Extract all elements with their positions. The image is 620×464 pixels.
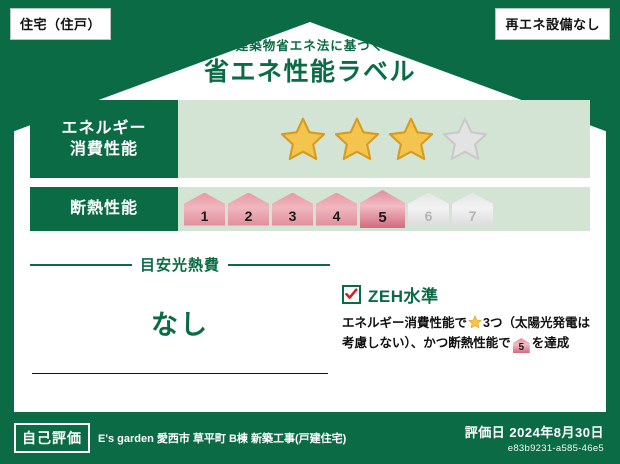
zeh-desc-part1: エネルギー消費性能で <box>342 316 467 330</box>
energy-label-line1: エネルギー <box>61 118 146 139</box>
lower-section: 目安光熱費 なし ZEH水準 エネルギー消費性能で3つ（太陽光発電は考慮しない）… <box>30 252 590 392</box>
energy-label-line2: 消費性能 <box>70 139 138 160</box>
utility-cost-title: 目安光熱費 <box>140 254 220 275</box>
zeh-desc-part3: を達成 <box>532 336 570 350</box>
utility-cost-value: なし <box>30 303 330 342</box>
insulation-performance-row: 断熱性能 1234567 <box>30 187 590 231</box>
zeh-panel: ZEH水準 エネルギー消費性能で3つ（太陽光発電は考慮しない）、かつ断熱性能で5… <box>330 252 590 392</box>
insulation-performance-value: 1234567 <box>178 187 590 231</box>
utility-cost-panel: 目安光熱費 なし <box>30 252 330 392</box>
energy-performance-value <box>178 100 590 178</box>
energy-performance-label: エネルギー 消費性能 <box>30 100 178 178</box>
insulation-grade-value: 2 <box>245 209 253 223</box>
energy-performance-label: 住宅（住戸） 再エネ設備なし 建築物省エネ法に基づく 省エネ性能ラベル エネルギ… <box>0 0 620 464</box>
insulation-grade-7: 7 <box>452 193 493 226</box>
footer-right-group: 評価日 2024年8月30日 e83b9231-a585-46e5 <box>465 422 620 454</box>
title-subtitle: 建築物省エネ法に基づく <box>0 40 620 53</box>
star-icon-empty <box>442 116 488 162</box>
zeh-title: ZEH水準 <box>368 282 439 307</box>
insulation-performance-label: 断熱性能 <box>30 187 178 231</box>
insulation-grade-5: 5 <box>360 190 405 228</box>
renewable-energy-badge: 再エネ設備なし <box>495 8 610 40</box>
zeh-checkbox <box>342 285 361 304</box>
zeh-grade-badge: 5 <box>513 338 530 353</box>
insulation-grade-scale: 1234567 <box>184 190 493 228</box>
label-footer: 自己評価 E's garden 愛西市 草平町 B棟 新築工事(戸建住宅) 評価… <box>0 412 620 464</box>
checkmark-icon <box>345 288 358 301</box>
insulation-grade-value: 3 <box>289 209 297 223</box>
insulation-grade-value: 6 <box>425 209 433 223</box>
star-icon-filled <box>280 116 326 162</box>
insulation-grade-value: 7 <box>469 209 477 223</box>
self-evaluation-badge: 自己評価 <box>14 423 90 453</box>
zeh-description: エネルギー消費性能で3つ（太陽光発電は考慮しない）、かつ断熱性能で5を達成 <box>342 313 590 353</box>
utility-cost-divider <box>32 373 328 375</box>
evaluation-date: 評価日 2024年8月30日 <box>465 422 604 441</box>
insulation-grade-6: 6 <box>408 193 449 226</box>
insulation-label-text: 断熱性能 <box>70 198 138 219</box>
insulation-grade-1: 1 <box>184 193 225 226</box>
label-title-block: 建築物省エネ法に基づく 省エネ性能ラベル <box>0 40 620 85</box>
footer-left-group: 自己評価 E's garden 愛西市 草平町 B棟 新築工事(戸建住宅) <box>0 423 465 453</box>
building-type-badge: 住宅（住戸） <box>10 8 111 40</box>
insulation-grade-value: 4 <box>333 209 341 223</box>
utility-cost-header: 目安光熱費 <box>30 254 330 275</box>
header-rule-right <box>228 264 330 266</box>
star-rating <box>280 116 488 162</box>
property-name: E's garden 愛西市 草平町 B棟 新築工事(戸建住宅) <box>98 430 346 446</box>
energy-performance-row: エネルギー 消費性能 <box>30 100 590 178</box>
insulation-grade-4: 4 <box>316 193 357 226</box>
insulation-grade-3: 3 <box>272 193 313 226</box>
header-rule-left <box>30 264 132 266</box>
evaluation-id: e83b9231-a585-46e5 <box>465 443 604 454</box>
insulation-grade-value: 1 <box>201 209 209 223</box>
performance-rows: エネルギー 消費性能 断熱性能 1234567 <box>30 100 590 240</box>
insulation-grade-value: 5 <box>378 210 386 225</box>
star-icon-filled <box>334 116 380 162</box>
zeh-header: ZEH水準 <box>342 282 590 307</box>
page-title: 省エネ性能ラベル <box>0 60 620 85</box>
insulation-grade-2: 2 <box>228 193 269 226</box>
star-icon <box>468 315 482 329</box>
star-icon-filled <box>388 116 434 162</box>
